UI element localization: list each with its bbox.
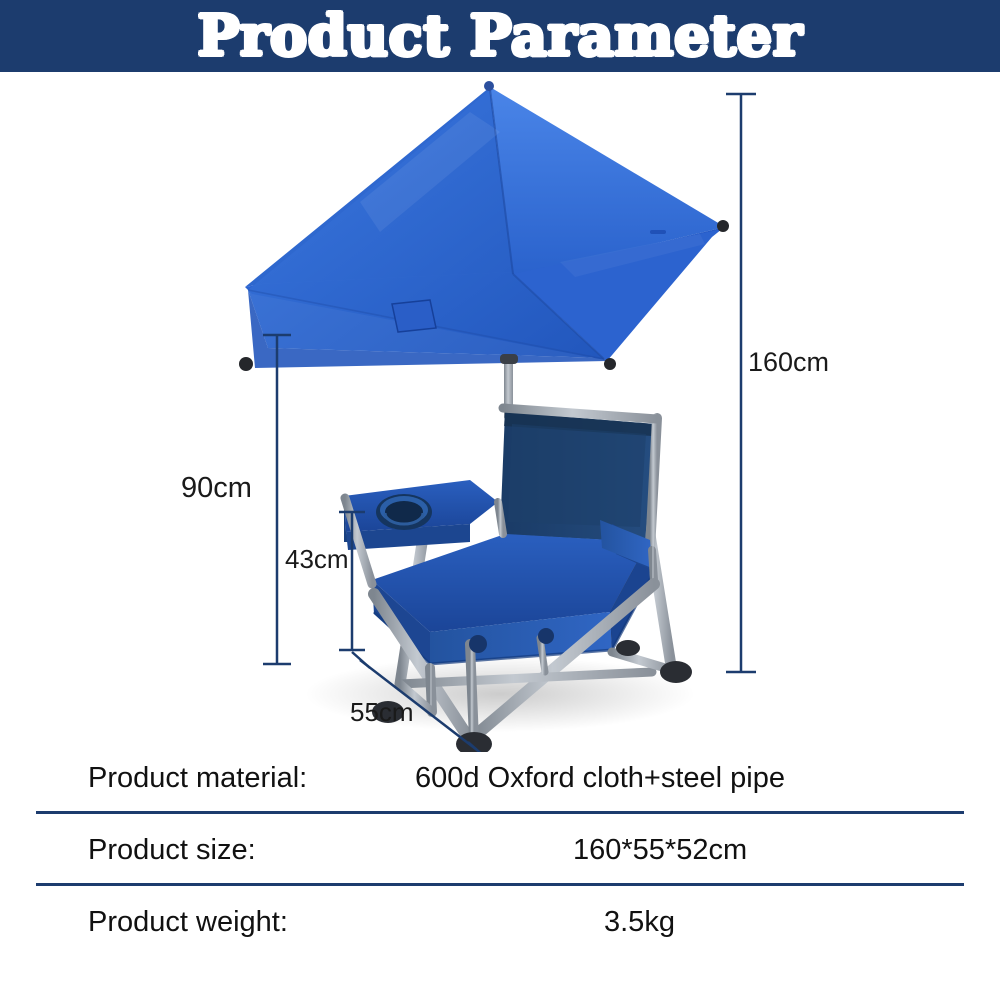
product-parameter-page: Product Parameter <box>0 0 1000 1000</box>
page-title: Product Parameter <box>197 8 802 64</box>
dimension-label-seat-depth: 55cm <box>350 697 414 728</box>
dimension-label-seat-height: 43cm <box>285 544 349 575</box>
spec-row-size: Product size: 160*55*52cm <box>0 814 1000 886</box>
spec-value-weight: 3.5kg <box>604 906 675 939</box>
spec-row-weight: Product weight: 3.5kg <box>0 886 1000 958</box>
dimension-label-seat-back-height: 90cm <box>181 472 252 505</box>
spec-value-size: 160*55*52cm <box>573 834 747 867</box>
header-banner: Product Parameter <box>0 0 1000 72</box>
spec-label-weight: Product weight: <box>88 906 288 939</box>
foot-right-front <box>616 640 640 656</box>
chair-diagram-svg <box>0 72 1000 752</box>
spec-row-material: Product material: 600d Oxford cloth+stee… <box>0 742 1000 814</box>
cup-holder <box>376 494 432 530</box>
spec-label-material: Product material: <box>88 762 307 795</box>
spec-label-size: Product size: <box>88 834 256 867</box>
spec-table: Product material: 600d Oxford cloth+stee… <box>0 742 1000 958</box>
dimension-label-overall-height: 160cm <box>748 347 829 378</box>
spec-value-material: 600d Oxford cloth+steel pipe <box>415 762 785 795</box>
canopy-group <box>239 81 729 371</box>
foot-right-rear <box>660 661 692 683</box>
product-illustration: 160cm 90cm 43cm 55cm <box>0 72 1000 752</box>
